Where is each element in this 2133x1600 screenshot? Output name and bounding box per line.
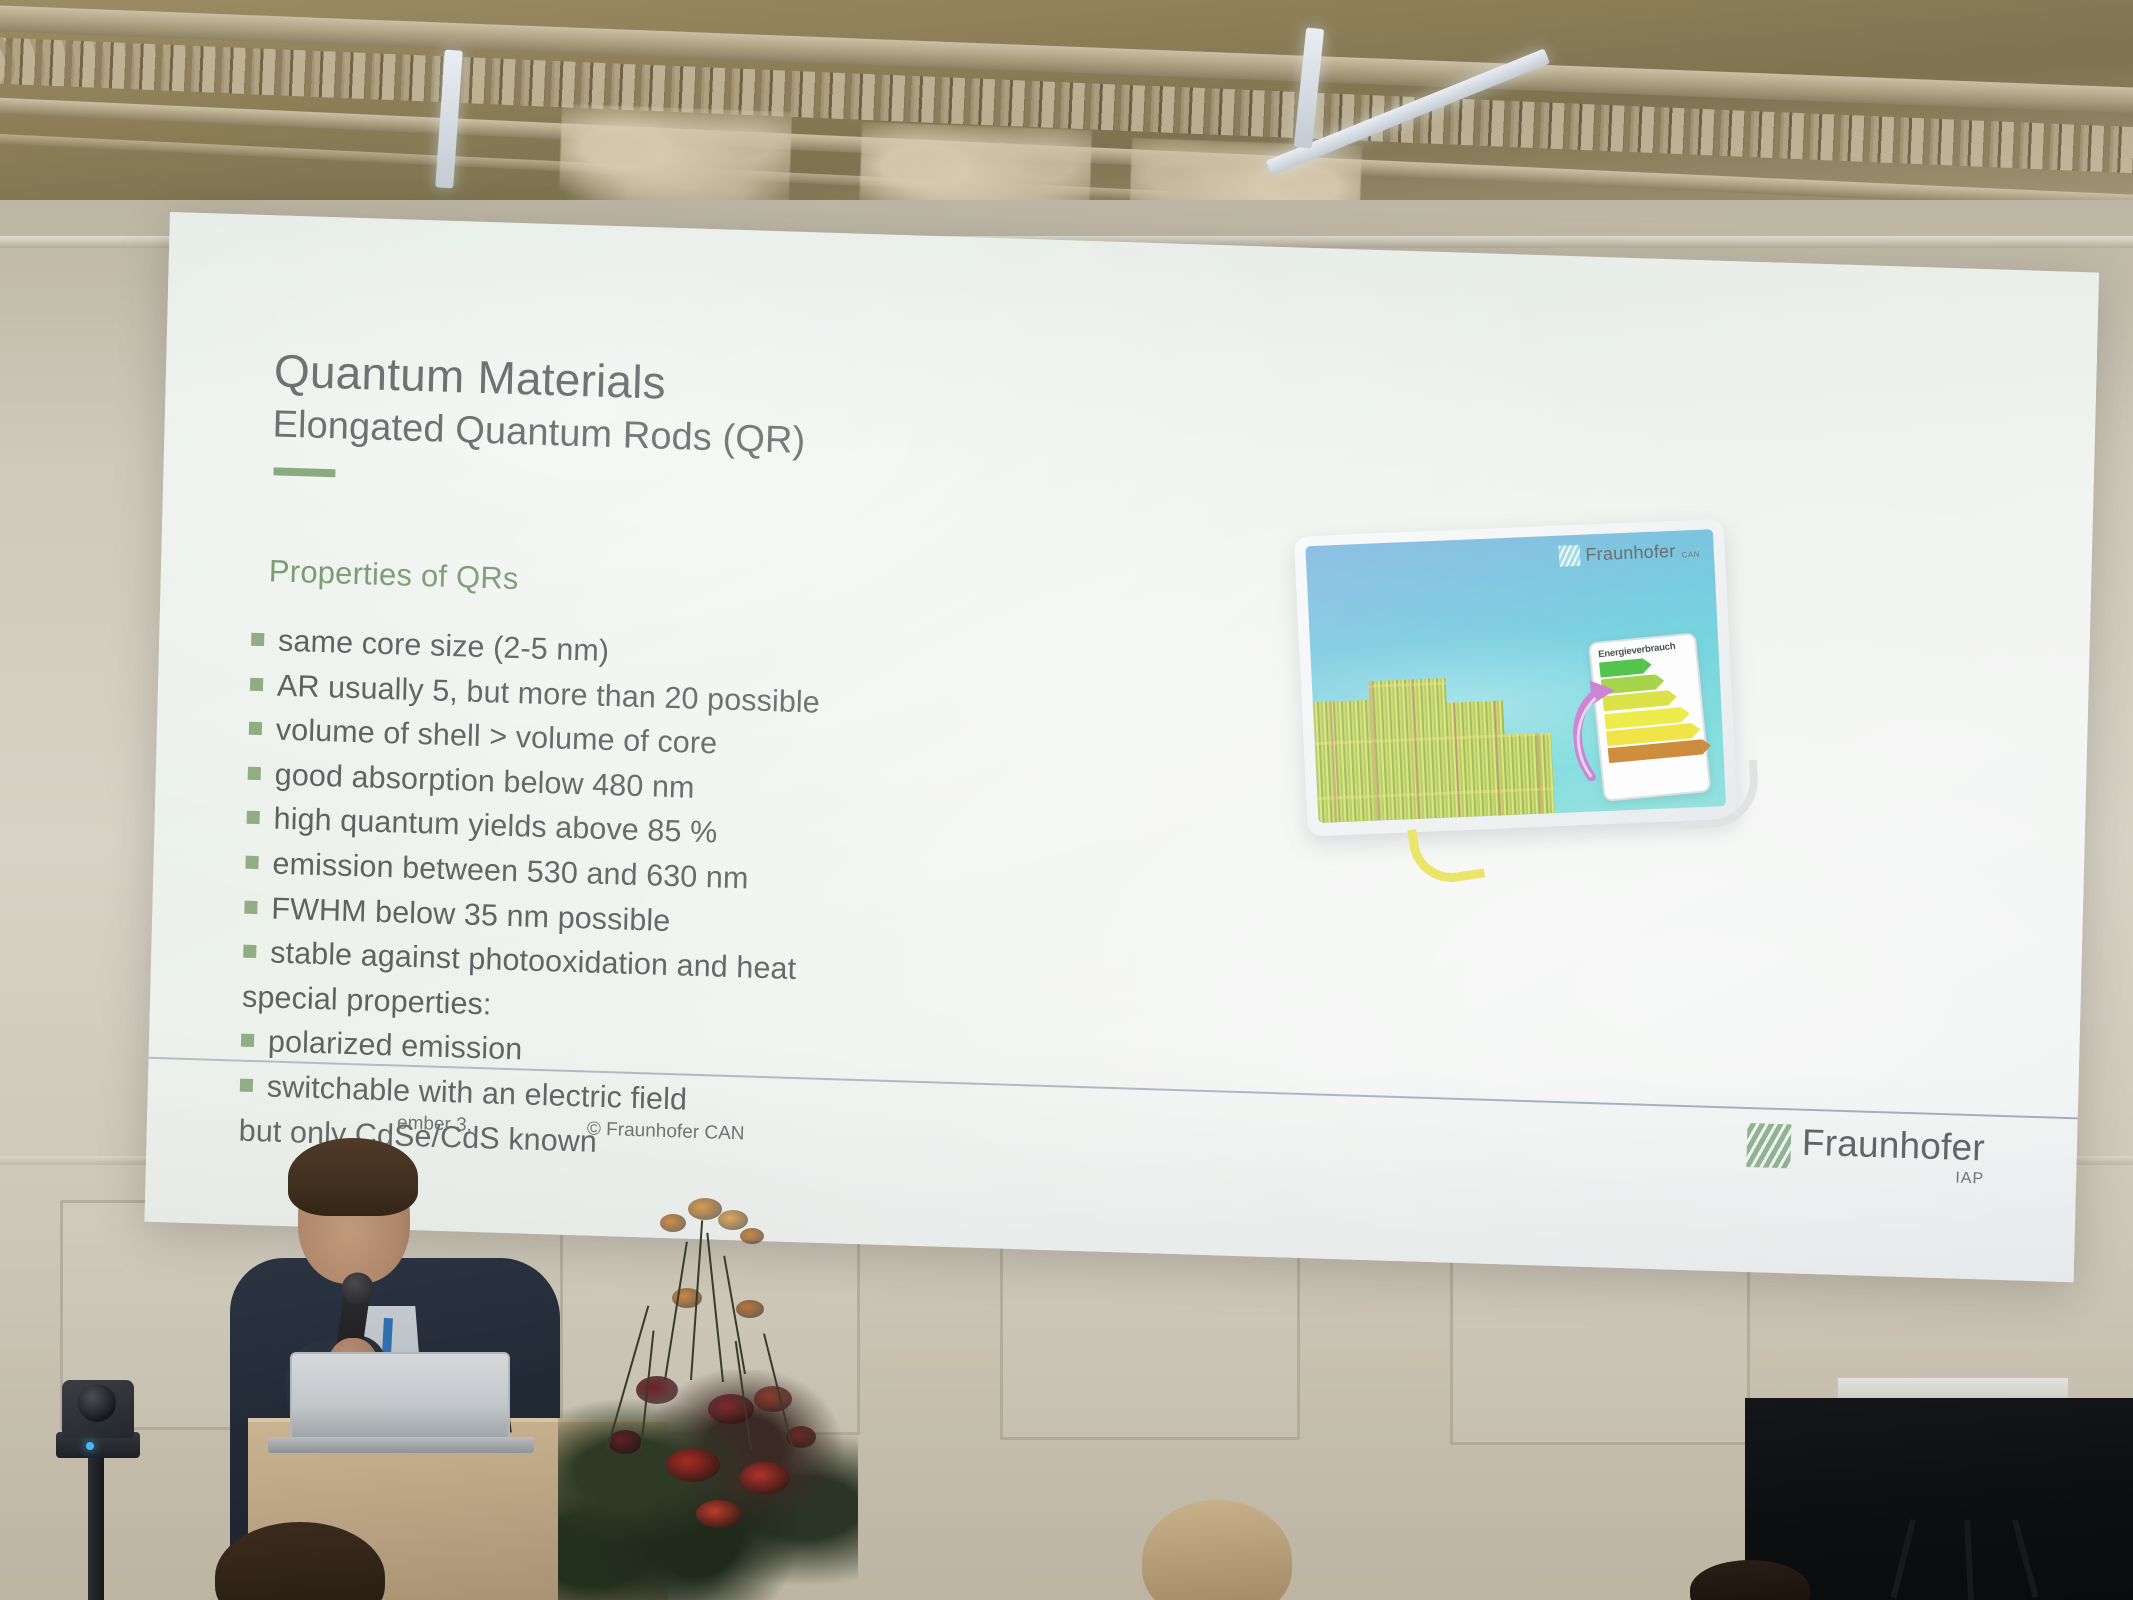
flower-bloom	[608, 1430, 642, 1454]
laptop-base	[268, 1437, 534, 1453]
flower-bloom	[736, 1300, 764, 1318]
tv-screen: Fraunhofer CAN Energieverbrauch ABCDEF	[1305, 529, 1726, 823]
camera-status-led	[86, 1442, 94, 1450]
fraunhofer-can-logo: Fraunhofer CAN	[1558, 540, 1700, 567]
bullet-square-icon	[247, 811, 260, 824]
fraunhofer-wordmark: Fraunhofer	[1585, 541, 1676, 566]
flower-stem	[706, 1233, 724, 1382]
bullet-square-icon	[243, 945, 256, 958]
tv-bezel: Fraunhofer CAN Energieverbrauch ABCDEF	[1294, 519, 1738, 837]
projection-screen: Quantum Materials Elongated Quantum Rods…	[144, 212, 2099, 1282]
tv-stand-leg-right	[1679, 760, 1760, 829]
title-accent-bar	[273, 467, 335, 477]
flower-bloom	[666, 1448, 720, 1482]
flower-bloom	[660, 1214, 686, 1232]
flower-bloom	[754, 1386, 792, 1412]
energy-improvement-arrow	[1568, 674, 1630, 782]
fraunhofer-wordmark: Fraunhofer	[1801, 1122, 1985, 1170]
bullet-text: special properties:	[242, 979, 492, 1022]
tv-stand-leg-left	[1407, 820, 1485, 888]
fraunhofer-unit-label: CAN	[1681, 550, 1700, 560]
camera-tripod-pole	[88, 1456, 104, 1600]
flower-arrangement	[540, 1180, 870, 1600]
bullet-text: same core size (2-5 nm)	[278, 624, 610, 669]
slide-title: Quantum Materials	[273, 343, 666, 409]
flower-bloom	[740, 1462, 790, 1494]
tripod-leg	[1964, 1520, 1974, 1600]
energy-grade-label: A	[1604, 664, 1611, 675]
flower-bloom	[696, 1500, 742, 1528]
flower-bloom	[740, 1228, 764, 1244]
flower-bloom	[636, 1376, 678, 1404]
presentation-slide: Quantum Materials Elongated Quantum Rods…	[144, 212, 2099, 1282]
bullet-square-icon	[241, 1034, 254, 1047]
av-tripod	[1880, 1520, 2050, 1600]
ptz-camera	[40, 1380, 160, 1600]
presenter-laptop	[290, 1352, 510, 1440]
speaker-hair	[288, 1138, 418, 1216]
bullet-square-icon	[245, 856, 258, 869]
properties-bullet-list: same core size (2-5 nm)AR usually 5, but…	[238, 623, 1051, 1183]
flower-stem	[664, 1242, 688, 1381]
camera-lens-icon	[78, 1384, 116, 1422]
tripod-leg	[1891, 1519, 1916, 1598]
slide-subtitle: Elongated Quantum Rods (QR)	[272, 403, 806, 463]
tripod-leg	[2012, 1519, 2039, 1598]
bullet-square-icon	[240, 1079, 253, 1092]
flower-bloom	[688, 1198, 722, 1220]
bullet-square-icon	[244, 900, 257, 913]
bullet-square-icon	[251, 633, 264, 646]
flower-bloom	[718, 1210, 748, 1230]
conference-hall-scene: Quantum Materials Elongated Quantum Rods…	[0, 0, 2133, 1600]
fraunhofer-mark-icon	[1558, 545, 1580, 567]
fraunhofer-iap-logo: Fraunhofer IAP	[1746, 1120, 1985, 1188]
bullet-square-icon	[248, 766, 261, 779]
bullet-square-icon	[249, 722, 262, 735]
fraunhofer-institute-label: IAP	[1955, 1170, 1984, 1189]
fraunhofer-mark-icon	[1746, 1123, 1791, 1168]
bullet-square-icon	[250, 677, 263, 690]
qled-tv-illustration: Fraunhofer CAN Energieverbrauch ABCDEF	[1273, 460, 1763, 919]
section-heading: Properties of QRs	[268, 553, 519, 597]
